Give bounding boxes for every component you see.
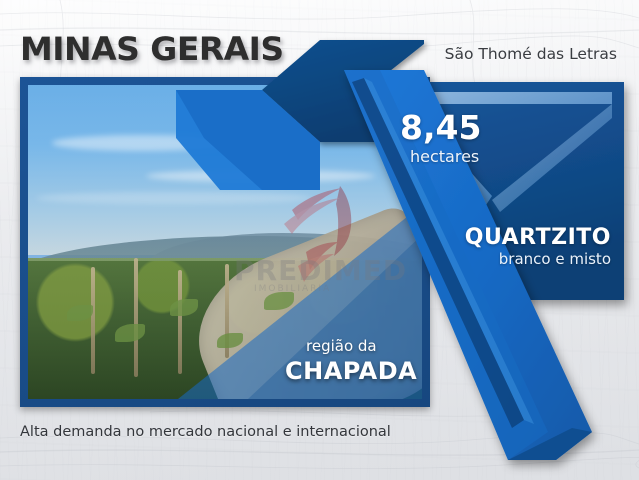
location-label: São Thomé das Letras	[445, 45, 617, 63]
stone-type-label: QUARTZITO	[465, 225, 611, 250]
page-title: MINAS GERAIS	[20, 30, 284, 68]
stone-detail-label: branco e misto	[499, 250, 611, 268]
banner-canvas: PREDIMED IMOBILIARIA	[0, 0, 639, 480]
area-unit: hectares	[410, 147, 479, 166]
region-label: região da	[306, 337, 377, 355]
footer-caption: Alta demanda no mercado nacional e inter…	[20, 424, 391, 440]
region-name: CHAPADA	[285, 357, 417, 385]
area-value: 8,45	[400, 108, 481, 147]
